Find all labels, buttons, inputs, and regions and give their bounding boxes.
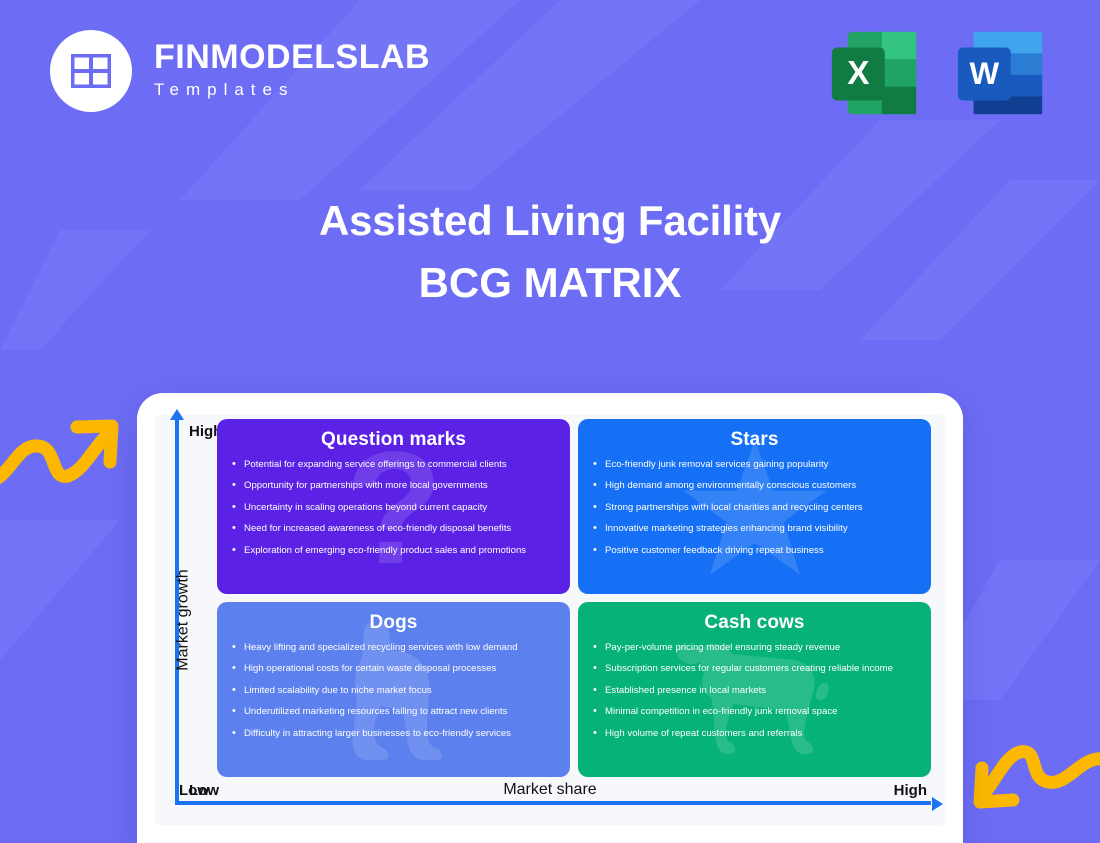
- brand-tagline: Templates: [154, 78, 430, 102]
- x-axis-arrowhead-icon: [932, 797, 943, 811]
- brand-logo[interactable]: FINMODELSLAB Templates: [50, 30, 430, 112]
- x-axis-line: [175, 801, 931, 805]
- list-item: Need for increased awareness of eco-frie…: [231, 523, 556, 535]
- quadrant-question-marks[interactable]: ? Question marks Potential for expanding…: [217, 419, 570, 594]
- squiggly-arrow-up-right-icon: [0, 404, 127, 496]
- list-item: Exploration of emerging eco-friendly pro…: [231, 545, 556, 557]
- list-item: Established presence in local markets: [592, 685, 917, 697]
- page-header: FINMODELSLAB Templates X W: [0, 0, 1100, 150]
- grid-2x2-icon: [71, 54, 111, 88]
- excel-icon[interactable]: X: [826, 24, 924, 122]
- quadrant-dogs[interactable]: Dogs Heavy lifting and specialized recyc…: [217, 602, 570, 777]
- quadrant-title: Stars: [592, 429, 917, 451]
- x-axis-low-label: Low: [179, 782, 209, 799]
- list-item: High demand among environmentally consci…: [592, 480, 917, 492]
- quadrant-cash-cows[interactable]: Cash cows Pay-per-volume pricing model e…: [578, 602, 931, 777]
- list-item: Uncertainty in scaling operations beyond…: [231, 502, 556, 514]
- matrix-panel: High Low Market growth Market share High…: [155, 415, 945, 825]
- squiggly-arrow-down-left-icon: [958, 730, 1100, 835]
- list-item: Heavy lifting and specialized recycling …: [231, 642, 556, 654]
- x-axis-high-label: High: [894, 782, 927, 799]
- quadrant-bullet-list: Heavy lifting and specialized recycling …: [231, 642, 556, 740]
- logo-circle: [50, 30, 132, 112]
- list-item: Positive customer feedback driving repea…: [592, 545, 917, 557]
- quadrant-title: Dogs: [231, 612, 556, 634]
- list-item: Limited scalability due to niche market …: [231, 685, 556, 697]
- matrix-card: High Low Market growth Market share High…: [137, 393, 963, 843]
- quadrant-title: Cash cows: [592, 612, 917, 634]
- svg-text:X: X: [847, 55, 869, 92]
- quadrant-stars[interactable]: Stars Eco-friendly junk removal services…: [578, 419, 931, 594]
- list-item: Strong partnerships with local charities…: [592, 502, 917, 514]
- quadrant-bullet-list: Pay-per-volume pricing model ensuring st…: [592, 642, 917, 740]
- y-axis-title: Market growth: [175, 569, 193, 670]
- list-item: Potential for expanding service offering…: [231, 459, 556, 471]
- list-item: Subscription services for regular custom…: [592, 663, 917, 675]
- list-item: Opportunity for partnerships with more l…: [231, 480, 556, 492]
- quadrant-bullet-list: Potential for expanding service offering…: [231, 459, 556, 557]
- brand-name: FINMODELSLAB: [154, 40, 430, 76]
- quadrant-bullet-list: Eco-friendly junk removal services gaini…: [592, 459, 917, 557]
- brand-text: FINMODELSLAB Templates: [154, 40, 430, 101]
- title-block: Assisted Living Facility BCG MATRIX: [0, 196, 1100, 307]
- x-axis-title: Market share: [155, 781, 945, 799]
- office-format-icons: X W: [826, 24, 1050, 122]
- list-item: Underutilized marketing resources failin…: [231, 706, 556, 718]
- list-item: Eco-friendly junk removal services gaini…: [592, 459, 917, 471]
- svg-text:W: W: [970, 56, 1000, 91]
- list-item: High operational costs for certain waste…: [231, 663, 556, 675]
- page-subtitle: BCG MATRIX: [0, 258, 1100, 308]
- quadrant-grid: ? Question marks Potential for expanding…: [217, 419, 931, 777]
- quadrant-title: Question marks: [231, 429, 556, 451]
- y-axis-arrowhead-icon: [170, 409, 184, 420]
- list-item: High volume of repeat customers and refe…: [592, 728, 917, 740]
- list-item: Pay-per-volume pricing model ensuring st…: [592, 642, 917, 654]
- list-item: Innovative marketing strategies enhancin…: [592, 523, 917, 535]
- list-item: Minimal competition in eco-friendly junk…: [592, 706, 917, 718]
- word-icon[interactable]: W: [952, 24, 1050, 122]
- page-title: Assisted Living Facility: [0, 196, 1100, 246]
- list-item: Difficulty in attracting larger business…: [231, 728, 556, 740]
